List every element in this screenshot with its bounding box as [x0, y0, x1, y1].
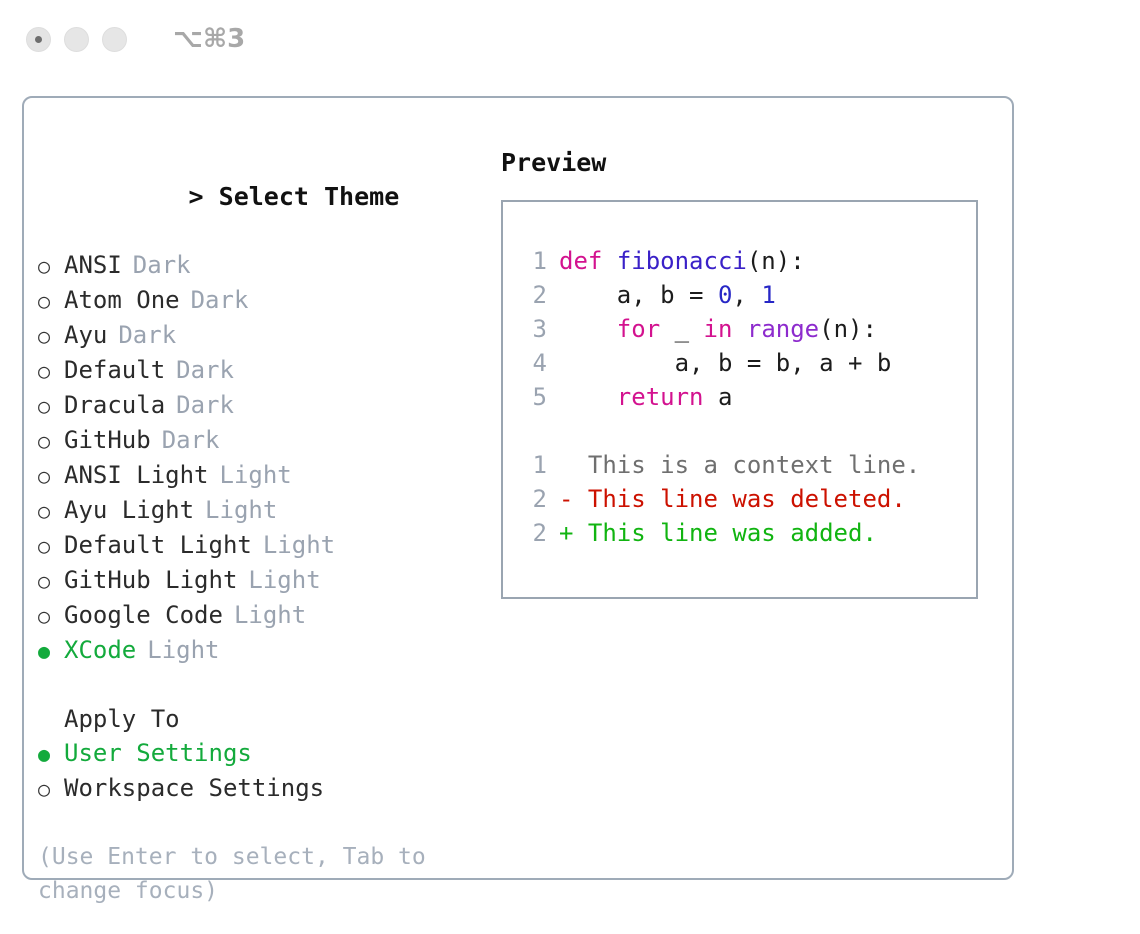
apply-to-option-workspace-settings[interactable]: ○Workspace Settings: [38, 771, 488, 806]
theme-option-ansi-light[interactable]: ○ANSI LightLight: [38, 458, 488, 493]
code-token-plain: a: [704, 383, 733, 411]
code-preview: 1def fibonacci(n):2 a, b = 0, 13 for _ i…: [513, 244, 970, 550]
theme-option-label: GitHub Light: [64, 563, 237, 597]
line-number: 2: [513, 278, 547, 312]
diff-marker-icon: +: [559, 519, 588, 547]
code-token-plain: [602, 247, 616, 275]
radio-unselected-icon: ○: [38, 529, 64, 563]
theme-option-label: GitHub: [64, 423, 151, 457]
theme-variant-tag: Dark: [176, 353, 234, 387]
code-line-text: return a: [559, 380, 732, 414]
apply-to-option-label: Workspace Settings: [64, 771, 324, 805]
theme-option-atom-one[interactable]: ○Atom OneDark: [38, 283, 488, 318]
radio-unselected-icon: ○: [38, 319, 64, 353]
select-theme-header: > Select Theme: [38, 146, 488, 248]
diff-text: This line was deleted.: [588, 485, 906, 513]
theme-option-github[interactable]: ○GitHubDark: [38, 423, 488, 458]
theme-option-label: Ayu Light: [64, 493, 194, 527]
code-line: 3 for _ in range(n):: [513, 312, 970, 346]
code-token-plain: [559, 383, 617, 411]
radio-unselected-icon: ○: [38, 564, 64, 598]
code-line-text: a, b = b, a + b: [559, 346, 891, 380]
code-token-kw: in: [704, 315, 733, 343]
code-line: 2 a, b = 0, 1: [513, 278, 970, 312]
code-line-text: def fibonacci(n):: [559, 244, 805, 278]
app-window: ⌥⌘3 > Select Theme ○ANSIDark○Atom OneDar…: [0, 0, 1140, 934]
main-panel: > Select Theme ○ANSIDark○Atom OneDark○Ay…: [22, 96, 1014, 880]
line-number: 3: [513, 312, 547, 346]
preview-column: Preview 1def fibonacci(n):2 a, b = 0, 13…: [501, 146, 1001, 599]
preview-title: Preview: [501, 146, 1001, 180]
theme-option-ansi[interactable]: ○ANSIDark: [38, 248, 488, 283]
code-token-plain: (n):: [747, 247, 805, 275]
theme-option-dracula[interactable]: ○DraculaDark: [38, 388, 488, 423]
theme-variant-tag: Light: [147, 633, 219, 667]
traffic-lights: [26, 27, 127, 52]
window-minimize-light[interactable]: [64, 27, 89, 52]
theme-option-label: ANSI Light: [64, 458, 209, 492]
diff-line-text: - This line was deleted.: [559, 482, 906, 516]
code-token-plain: a, b = b, a + b: [559, 349, 891, 377]
keyboard-hint: (Use Enter to select, Tab to change focu…: [38, 840, 458, 908]
radio-unselected-icon: ○: [38, 772, 64, 806]
theme-option-github-light[interactable]: ○GitHub LightLight: [38, 563, 488, 598]
code-token-kw: for: [617, 315, 660, 343]
keyboard-shortcut-label: ⌥⌘3: [173, 24, 245, 54]
radio-unselected-icon: ○: [38, 494, 64, 528]
theme-variant-tag: Light: [263, 528, 335, 562]
theme-option-label: Default: [64, 353, 165, 387]
code-line: 4 a, b = b, a + b: [513, 346, 970, 380]
code-token-plain: _: [660, 315, 703, 343]
diff-line-text: + This line was added.: [559, 516, 877, 550]
theme-variant-tag: Light: [205, 493, 277, 527]
theme-option-default[interactable]: ○DefaultDark: [38, 353, 488, 388]
theme-option-label: Ayu: [64, 318, 107, 352]
code-spacer: [513, 414, 970, 448]
code-token-kw: return: [617, 383, 704, 411]
line-number: 2: [513, 516, 547, 550]
theme-variant-tag: Dark: [191, 283, 249, 317]
code-line-text: for _ in range(n):: [559, 312, 877, 346]
code-token-plain: ,: [732, 281, 761, 309]
diff-line-ctx: 1 This is a context line.: [513, 448, 970, 482]
line-number: 2: [513, 482, 547, 516]
code-token-plain: [559, 315, 617, 343]
code-token-kw: def: [559, 247, 602, 275]
window-close-light[interactable]: [26, 27, 51, 52]
theme-option-ayu[interactable]: ○AyuDark: [38, 318, 488, 353]
select-theme-label: Select Theme: [219, 182, 400, 211]
theme-variant-tag: Light: [248, 563, 320, 597]
prompt-caret-icon: >: [189, 182, 204, 211]
code-token-num: 1: [761, 281, 775, 309]
theme-option-label: Default Light: [64, 528, 252, 562]
code-line: 5 return a: [513, 380, 970, 414]
line-number: 5: [513, 380, 547, 414]
code-token-fn: fibonacci: [617, 247, 747, 275]
theme-option-xcode[interactable]: ●XCodeLight: [38, 633, 488, 668]
theme-option-label: Dracula: [64, 388, 165, 422]
radio-unselected-icon: ○: [38, 389, 64, 423]
theme-option-label: XCode: [64, 633, 136, 667]
theme-variant-tag: Dark: [176, 388, 234, 422]
apply-to-list: ●User Settings○Workspace Settings: [38, 736, 488, 806]
theme-selection-column: > Select Theme ○ANSIDark○Atom OneDark○Ay…: [38, 146, 488, 908]
window-light-dot: [35, 36, 42, 43]
code-line: 1def fibonacci(n):: [513, 244, 970, 278]
theme-list: ○ANSIDark○Atom OneDark○AyuDark○DefaultDa…: [38, 248, 488, 668]
line-number: 1: [513, 244, 547, 278]
theme-option-label: Atom One: [64, 283, 180, 317]
apply-to-option-user-settings[interactable]: ●User Settings: [38, 736, 488, 771]
theme-option-ayu-light[interactable]: ○Ayu LightLight: [38, 493, 488, 528]
diff-line-del: 2- This line was deleted.: [513, 482, 970, 516]
diff-marker-icon: -: [559, 485, 588, 513]
code-token-builtin: range: [747, 315, 819, 343]
apply-to-option-label: User Settings: [64, 736, 252, 770]
code-token-plain: a, b =: [559, 281, 718, 309]
diff-text: This is a context line.: [588, 451, 920, 479]
theme-variant-tag: Light: [234, 598, 306, 632]
theme-variant-tag: Dark: [118, 318, 176, 352]
code-token-plain: (n):: [819, 315, 877, 343]
radio-unselected-icon: ○: [38, 599, 64, 633]
diff-line-text: This is a context line.: [559, 448, 920, 482]
code-lines: 1def fibonacci(n):2 a, b = 0, 13 for _ i…: [513, 244, 970, 414]
diff-line-add: 2+ This line was added.: [513, 516, 970, 550]
line-number: 4: [513, 346, 547, 380]
theme-option-default-light[interactable]: ○Default LightLight: [38, 528, 488, 563]
code-token-plain: [732, 315, 746, 343]
theme-option-google-code[interactable]: ○Google CodeLight: [38, 598, 488, 633]
line-number: 1: [513, 448, 547, 482]
radio-unselected-icon: ○: [38, 284, 64, 318]
theme-option-label: ANSI: [64, 248, 122, 282]
radio-unselected-icon: ○: [38, 249, 64, 283]
diff-text: This line was added.: [588, 519, 877, 547]
radio-unselected-icon: ○: [38, 354, 64, 388]
apply-to-header: Apply To: [38, 702, 488, 736]
radio-selected-icon: ●: [38, 737, 64, 771]
code-token-num: 0: [718, 281, 732, 309]
window-maximize-light[interactable]: [102, 27, 127, 52]
radio-selected-icon: ●: [38, 634, 64, 668]
theme-variant-tag: Light: [220, 458, 292, 492]
titlebar: ⌥⌘3: [0, 0, 1140, 78]
code-line-text: a, b = 0, 1: [559, 278, 776, 312]
diff-lines: 1 This is a context line.2- This line wa…: [513, 448, 970, 550]
theme-variant-tag: Dark: [162, 423, 220, 457]
diff-marker-icon: [559, 451, 588, 479]
radio-unselected-icon: ○: [38, 459, 64, 493]
preview-box: 1def fibonacci(n):2 a, b = 0, 13 for _ i…: [501, 200, 978, 599]
radio-unselected-icon: ○: [38, 424, 64, 458]
theme-variant-tag: Dark: [133, 248, 191, 282]
theme-option-label: Google Code: [64, 598, 223, 632]
